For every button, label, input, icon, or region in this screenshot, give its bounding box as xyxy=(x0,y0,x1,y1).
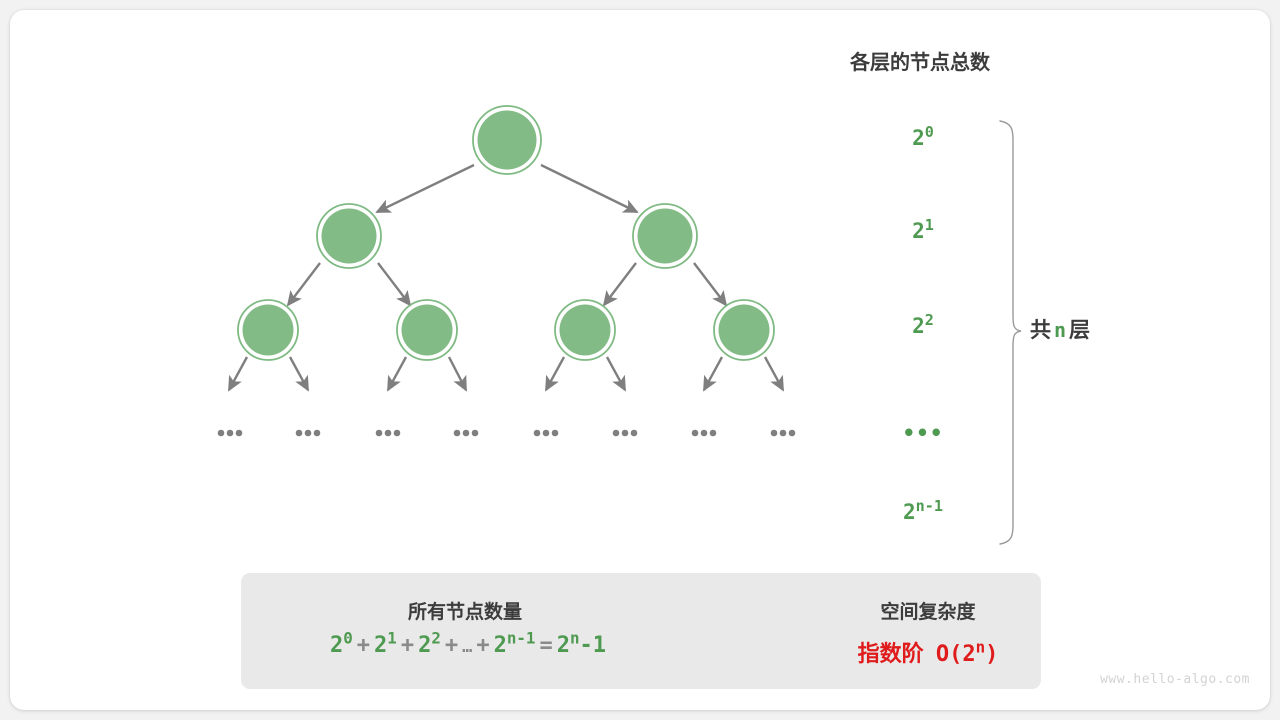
formula-last-term: 2n-1 xyxy=(494,633,536,658)
level-label-2: 22 xyxy=(863,314,983,338)
summary-left-heading: 所有节点数量 xyxy=(300,597,630,624)
level-label-last: 2n-1 xyxy=(863,500,983,524)
complexity-label: 指数阶 xyxy=(858,641,924,666)
summary-box xyxy=(241,573,1041,689)
level-label-2-exp: 2 xyxy=(925,311,934,329)
complexity-notation-exp: n xyxy=(976,638,986,657)
watermark: www.hello-algo.com xyxy=(1040,672,1250,687)
formula-term-1: 21 xyxy=(374,633,397,658)
formula-term-0-exp: 0 xyxy=(343,629,353,648)
level-label-last-exp: n-1 xyxy=(916,497,943,515)
summary-right-heading: 空间复杂度 xyxy=(815,597,1041,624)
formula-plus-3: + xyxy=(472,633,493,658)
total-layers-label: 共n层 xyxy=(1030,314,1090,344)
total-layers-prefix: 共 xyxy=(1030,319,1051,342)
formula-term-0: 20 xyxy=(330,633,353,658)
node-count-formula: 20+21+22+…+2n-1=2n-1 xyxy=(258,633,678,658)
formula-term-2-exp: 2 xyxy=(431,629,441,648)
formula-term-1-exp: 1 xyxy=(387,629,397,648)
level-label-1-exp: 1 xyxy=(925,216,934,234)
complexity-notation: O(2n) xyxy=(936,642,999,667)
complexity-notation-prefix: O(2 xyxy=(936,642,976,667)
level-label-1: 21 xyxy=(863,219,983,243)
complexity-result: 指数阶 O(2n) xyxy=(818,636,1038,668)
formula-result-tail: -1 xyxy=(579,633,606,658)
level-label-0-exp: 0 xyxy=(925,123,934,141)
total-layers-variable: n xyxy=(1051,318,1069,342)
formula-dots: … xyxy=(462,637,472,657)
formula-last-term-exp: n-1 xyxy=(507,629,536,648)
formula-plus-2: + xyxy=(441,633,462,658)
formula-equals: = xyxy=(535,633,556,658)
formula-plus-1: + xyxy=(397,633,418,658)
complexity-notation-suffix: ) xyxy=(985,642,998,667)
formula-plus-0: + xyxy=(353,633,374,658)
formula-term-2: 22 xyxy=(418,633,441,658)
level-label-ellipsis: ••• xyxy=(863,421,983,445)
formula-result: 2n-1 xyxy=(557,633,606,658)
total-layers-suffix: 层 xyxy=(1069,319,1090,342)
level-label-0: 20 xyxy=(863,126,983,150)
diagram-root: 各层的节点总数 20 21 22 ••• 2n-1 共n层 所有节点数量 空间复… xyxy=(0,0,1280,720)
column-header-title: 各层的节点总数 xyxy=(770,46,1070,75)
